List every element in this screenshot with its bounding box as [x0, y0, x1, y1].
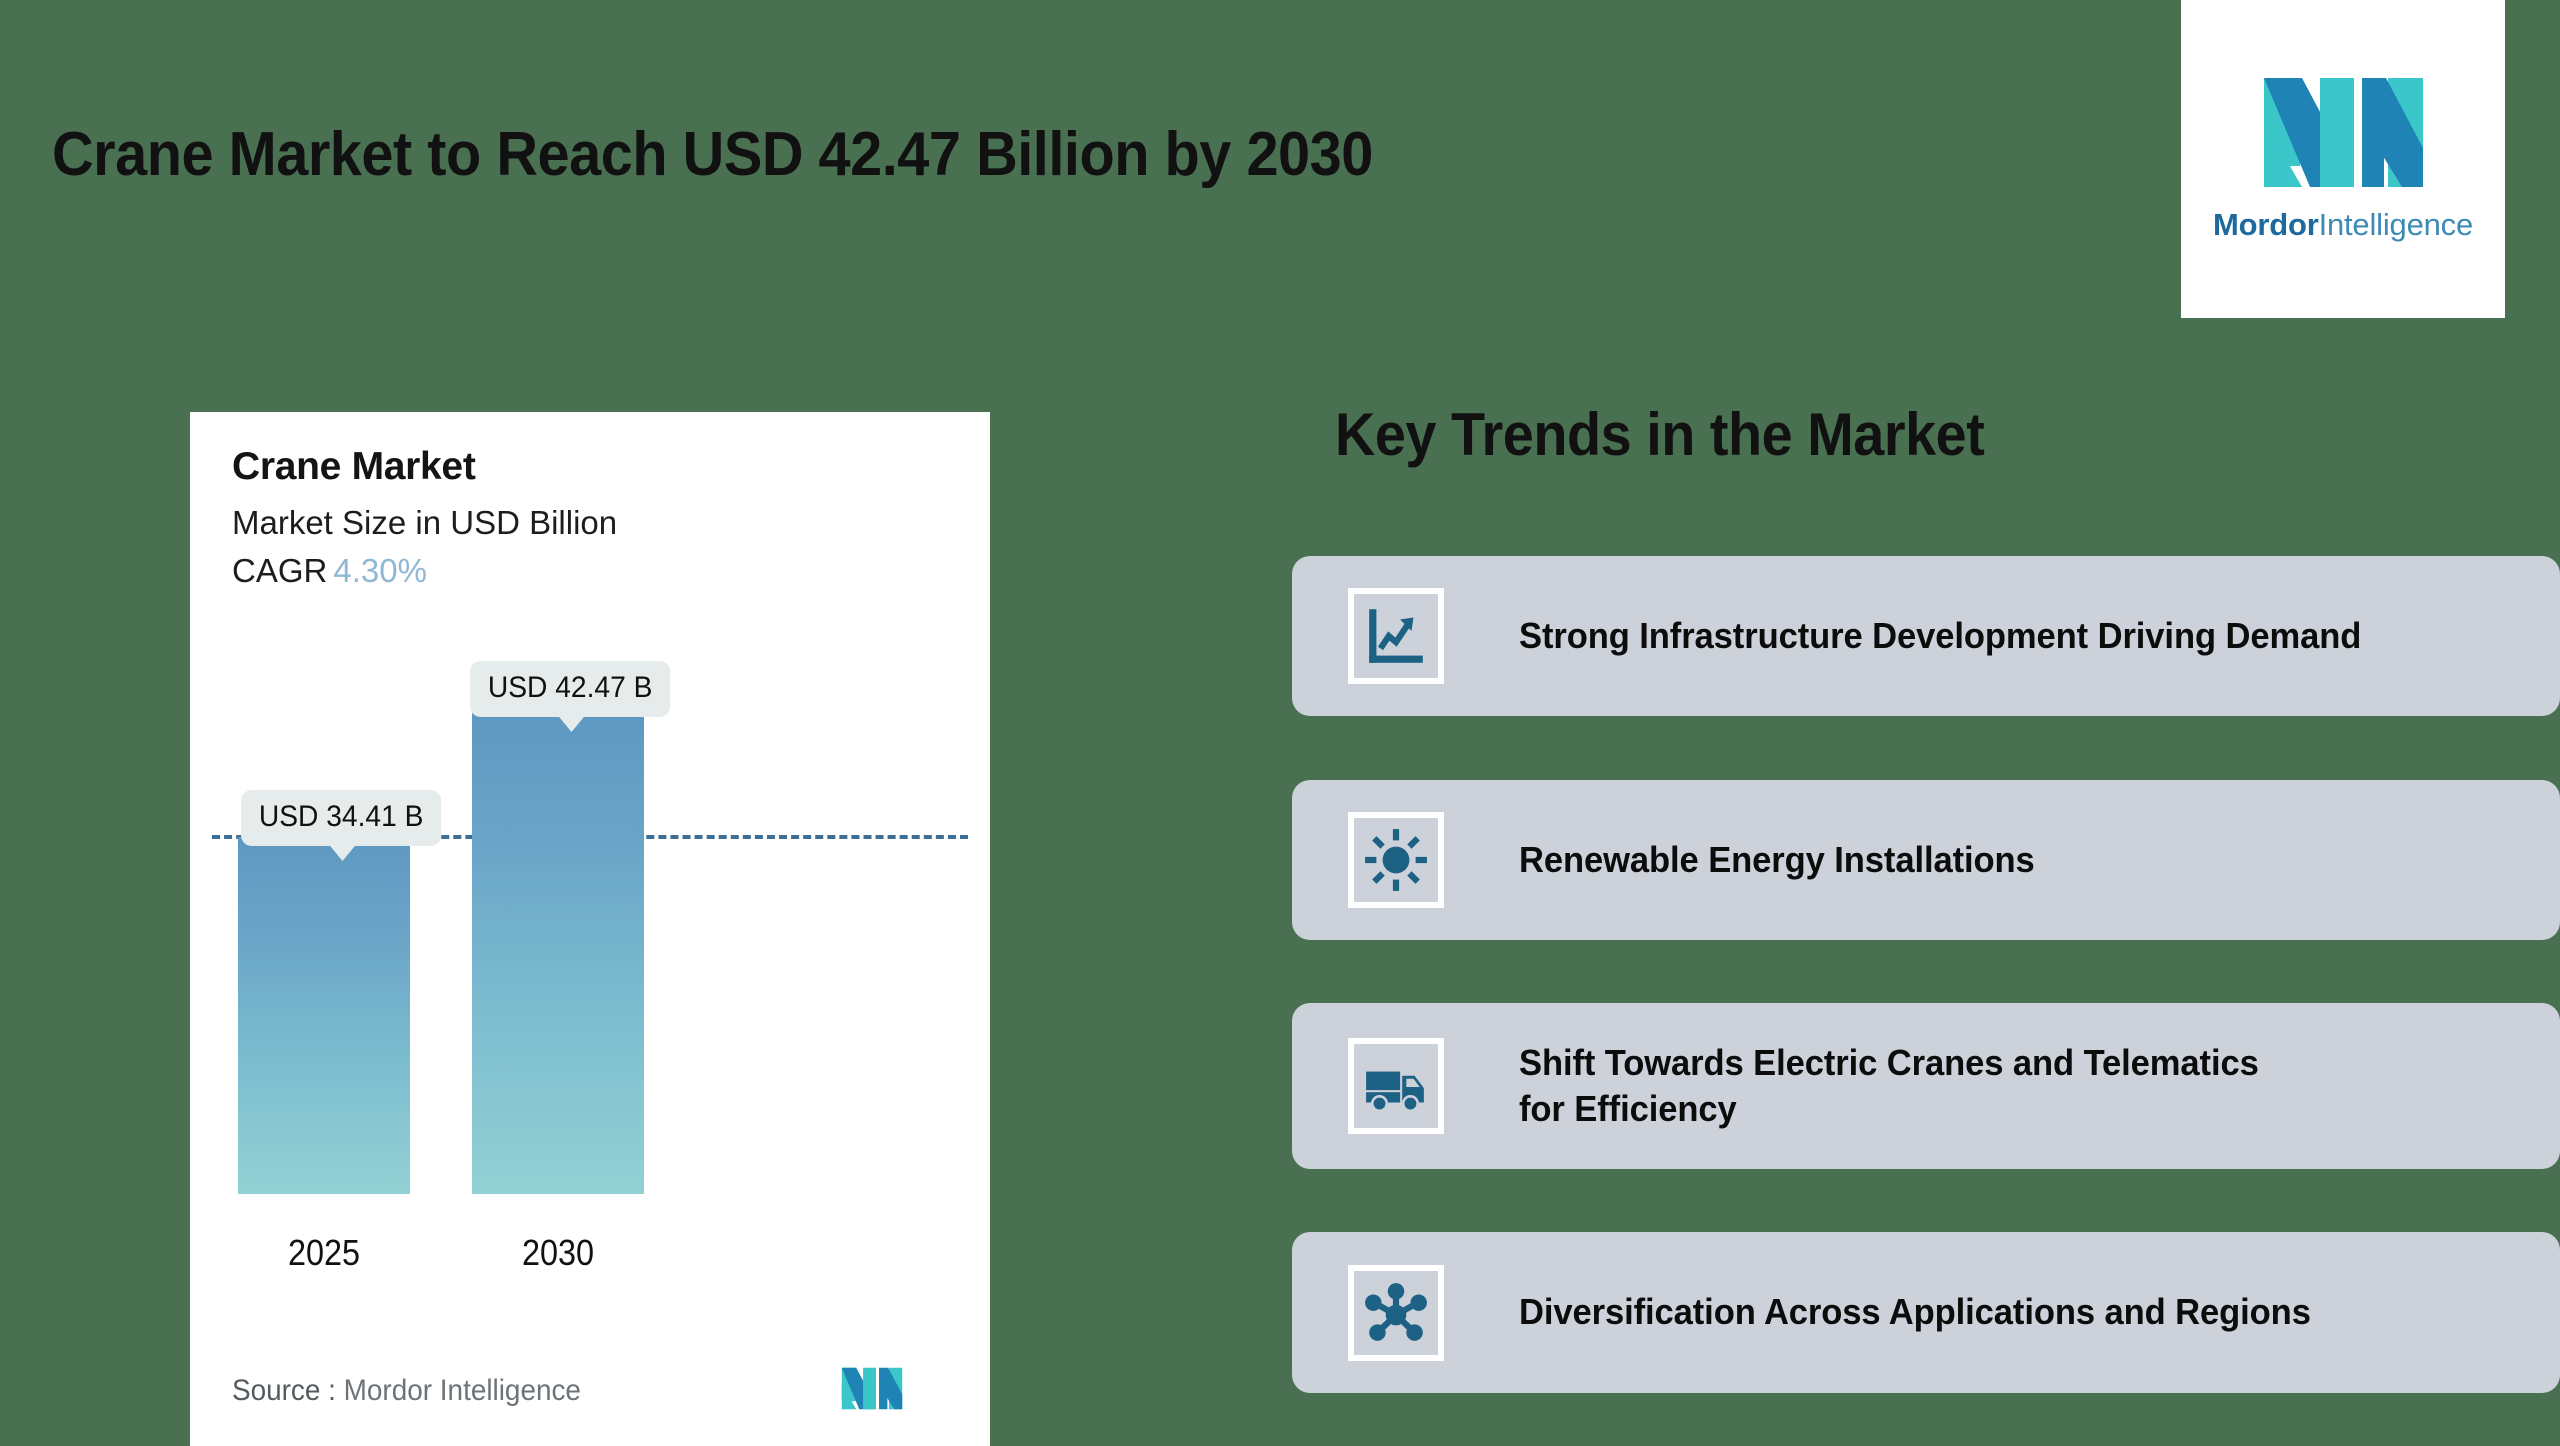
x-axis-label-2025: 2025	[247, 1232, 402, 1274]
trend-label-2: Renewable Energy Installations	[1519, 837, 2035, 883]
trend-label-4: Diversification Across Applications and …	[1519, 1289, 2311, 1335]
trends-heading: Key Trends in the Market	[1335, 400, 1984, 469]
network-hub-icon	[1348, 1265, 1444, 1361]
value-callout-2030: USD 42.47 B	[470, 661, 670, 717]
trend-card-1[interactable]: Strong Infrastructure Development Drivin…	[1292, 556, 2560, 716]
brand-wordmark: MordorIntelligence	[2213, 207, 2473, 243]
trend-card-4[interactable]: Diversification Across Applications and …	[1292, 1232, 2560, 1393]
brand-name-light: Intelligence	[2319, 207, 2473, 242]
bar-2030	[472, 709, 644, 1194]
trend-card-2[interactable]: Renewable Energy Installations	[1292, 780, 2560, 940]
value-callout-2025: USD 34.41 B	[241, 790, 441, 846]
brand-name-bold: Mordor	[2213, 207, 2319, 242]
trend-label-1: Strong Infrastructure Development Drivin…	[1519, 613, 2361, 659]
trend-card-3[interactable]: Shift Towards Electric Cranes and Telema…	[1292, 1003, 2560, 1169]
source-monogram-icon	[841, 1367, 903, 1410]
growth-chart-icon	[1348, 588, 1444, 684]
mordor-intelligence-monogram-icon	[2262, 76, 2425, 189]
page-title: Crane Market to Reach USD 42.47 Billion …	[52, 122, 1373, 187]
source-name: Mordor Intelligence	[344, 1374, 581, 1407]
trend-label-3: Shift Towards Electric Cranes and Telema…	[1519, 1040, 2259, 1132]
bar-2025	[238, 837, 410, 1194]
source-label: Source :	[232, 1374, 336, 1407]
truck-icon	[1348, 1038, 1444, 1134]
bar-chart-plot: USD 34.41 B USD 42.47 B 2025 2030	[190, 412, 990, 1446]
chart-card: Crane Market Market Size in USD Billion …	[190, 412, 990, 1446]
infographic-page: Crane Market to Reach USD 42.47 Billion …	[0, 0, 2560, 1446]
brand-logo: MordorIntelligence	[2181, 0, 2505, 318]
x-axis-label-2030: 2030	[481, 1232, 636, 1274]
sun-icon	[1348, 812, 1444, 908]
chart-source: Source : Mordor Intelligence	[232, 1374, 581, 1408]
